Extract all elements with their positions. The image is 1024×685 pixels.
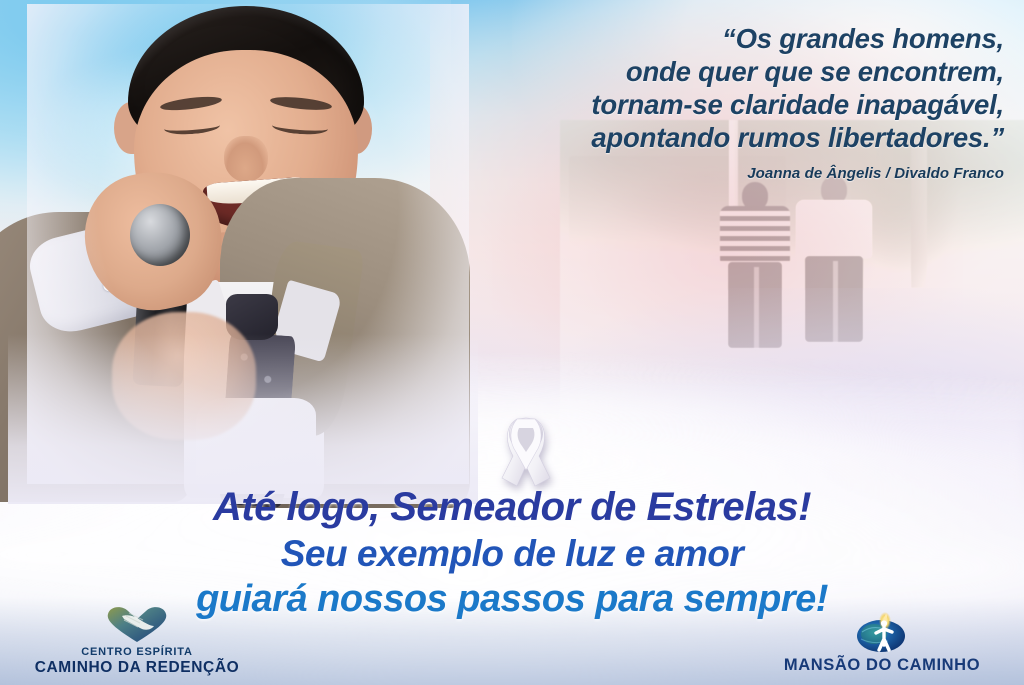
headline-line-1: Até logo, Semeador de Estrelas! [0,487,1024,527]
portrait-bottom-fade [8,334,478,504]
scene-person-torso [720,206,790,264]
logo-mansao-do-caminho: MANSÃO DO CAMINHO [752,612,1012,675]
quote-author: Joanna de Ângelis / Divaldo Franco [384,165,1004,182]
headline-line-2: Seu exemplo de luz e amor [0,535,1024,572]
logo-centro-espirita: CENTRO ESPÍRITA CAMINHO DA REDENÇÃO [12,604,262,677]
memorial-poster: “Os grandes homens, onde quer que se enc… [0,0,1024,685]
scene-person-torso [796,200,872,258]
globe-figure-logo-icon [854,612,910,654]
logo-left-line-1: CENTRO ESPÍRITA [12,646,262,659]
microphone-head-icon [130,204,190,266]
portrait-nose [224,136,268,182]
white-awareness-ribbon-icon [489,412,563,490]
quote-line-3: tornam-se claridade inapagável, [384,88,1004,121]
quote-block: “Os grandes homens, onde quer que se enc… [384,22,1004,182]
quote-line-2: onde quer que se encontrem, [384,55,1004,88]
headline-block: Até logo, Semeador de Estrelas! Seu exem… [0,487,1024,618]
logo-left-line-2: CAMINHO DA REDENÇÃO [12,659,262,677]
heart-hands-logo-icon [104,604,170,644]
quote-line-1: “Os grandes homens, [384,22,1004,55]
quote-line-4: apontando rumos libertadores.” [384,121,1004,154]
logo-right-line-1: MANSÃO DO CAMINHO [752,656,1012,675]
